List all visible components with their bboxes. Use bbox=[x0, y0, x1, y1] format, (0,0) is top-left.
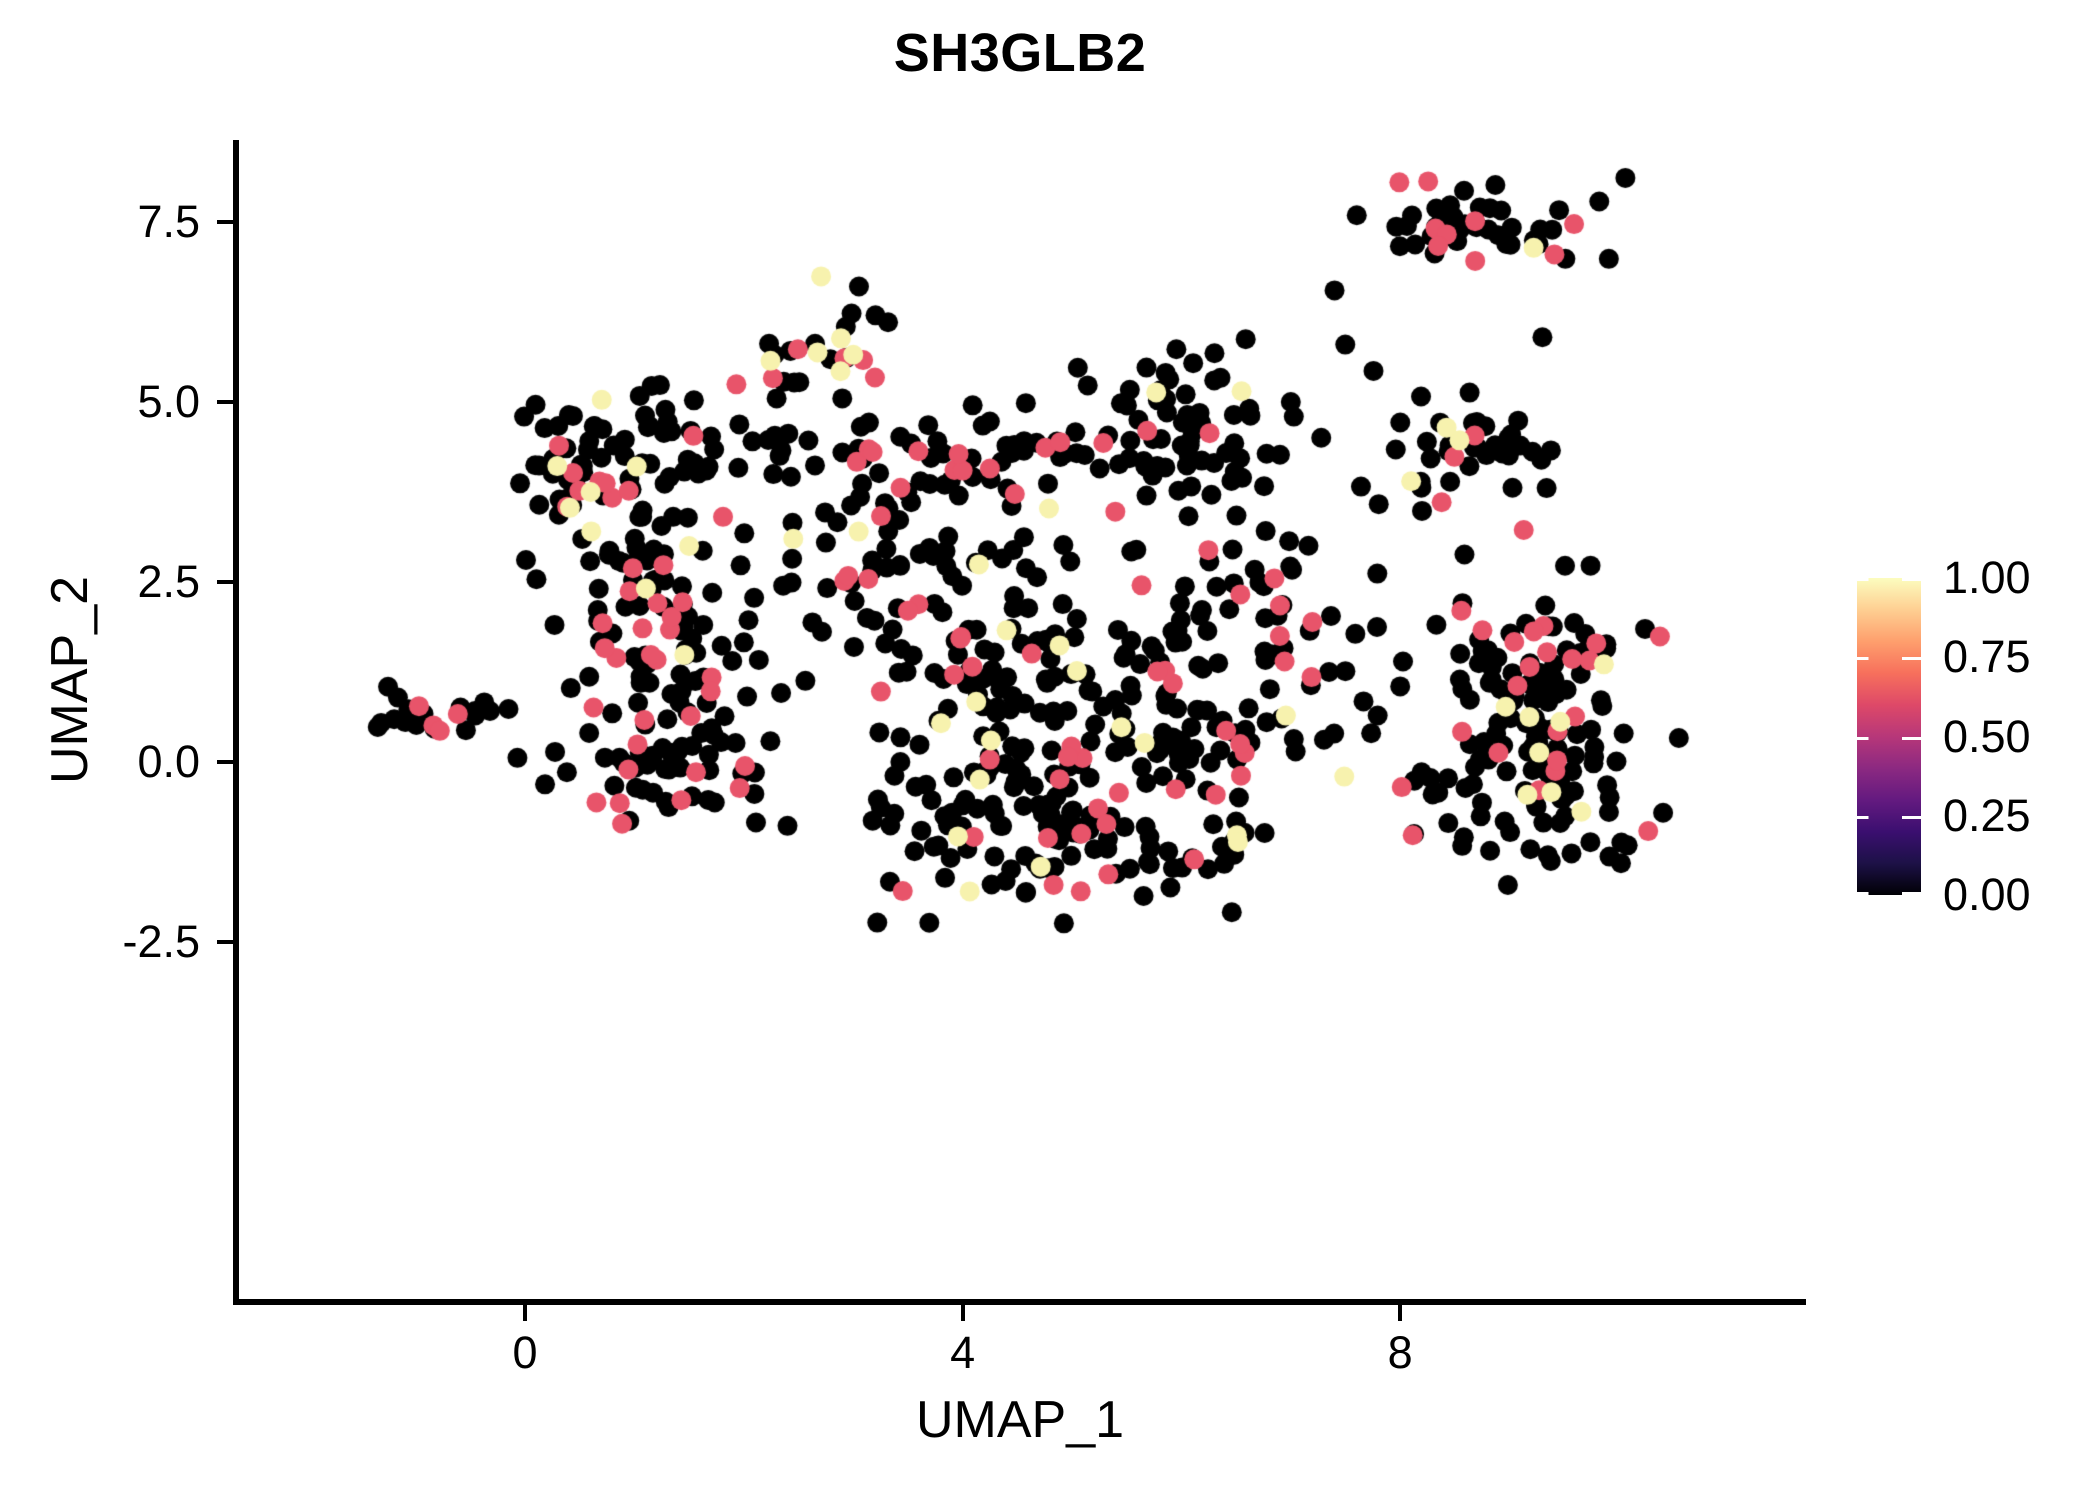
y-tick-label: 2.5 bbox=[0, 559, 200, 604]
colorbar-tick-mark bbox=[1857, 737, 1921, 740]
y-tick-label: 0.0 bbox=[0, 739, 200, 784]
colorbar-tick-mark bbox=[1857, 816, 1921, 819]
y-tick-mark bbox=[217, 580, 233, 584]
y-tick-mark bbox=[217, 220, 233, 224]
y-tick-mark bbox=[217, 760, 233, 764]
y-axis-line bbox=[233, 140, 239, 1305]
x-tick-label: 8 bbox=[1300, 1330, 1500, 1375]
x-tick-label: 0 bbox=[425, 1330, 625, 1375]
y-axis-title: UMAP_2 bbox=[40, 430, 100, 930]
y-tick-label: -2.5 bbox=[0, 919, 200, 964]
colorbar-legend: 1.000.750.500.250.00 bbox=[1857, 560, 2087, 920]
x-axis-line bbox=[236, 1299, 1806, 1305]
colorbar-tick-label: 1.00 bbox=[1943, 555, 2100, 600]
x-tick-mark bbox=[1398, 1305, 1402, 1321]
colorbar-tick-mark bbox=[1857, 578, 1921, 581]
y-tick-label: 7.5 bbox=[0, 199, 200, 244]
y-tick-mark bbox=[217, 400, 233, 404]
colorbar-tick-label: 0.25 bbox=[1943, 793, 2100, 838]
colorbar-tick-label: 0.75 bbox=[1943, 634, 2100, 679]
colorbar-tick-mark bbox=[1857, 892, 1921, 895]
scatter-plot-canvas bbox=[0, 0, 2100, 1500]
y-tick-label: 5.0 bbox=[0, 379, 200, 424]
x-tick-label: 4 bbox=[863, 1330, 1063, 1375]
x-axis-title: UMAP_1 bbox=[520, 1390, 1520, 1450]
y-tick-mark bbox=[217, 940, 233, 944]
x-tick-mark bbox=[961, 1305, 965, 1321]
colorbar-tick-label: 0.00 bbox=[1943, 872, 2100, 917]
x-tick-mark bbox=[523, 1305, 527, 1321]
umap-feature-plot: SH3GLB2 7.55.02.50.0-2.5 048 UMAP_1 UMAP… bbox=[0, 0, 2100, 1500]
colorbar-tick-label: 0.50 bbox=[1943, 714, 2100, 759]
colorbar-tick-mark bbox=[1857, 657, 1921, 660]
